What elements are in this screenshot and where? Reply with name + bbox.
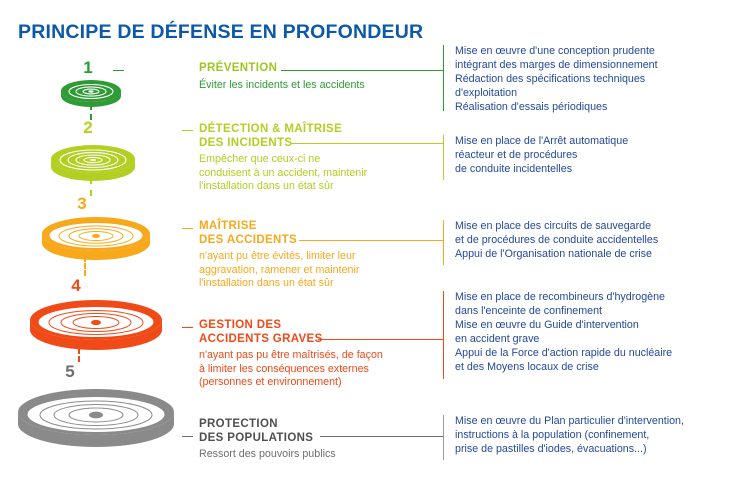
level-body-2: Empêcher que ceux-ci ne conduisent à un … (199, 153, 434, 194)
detail-line: de conduite incidentelles (455, 163, 628, 177)
infographic-canvas: PRINCIPE DE DÉFENSE EN PROFONDEUR 1 2 3 … (0, 0, 750, 499)
detail-line: et de procédures de conduite accidentell… (455, 234, 658, 248)
level-details-3: Mise en place des circuits de sauvegarde… (455, 220, 658, 262)
level-number-1: 1 (68, 58, 108, 78)
level-heading-3-line2: DES ACCIDENTS (199, 234, 297, 248)
level-divider-4 (443, 291, 444, 379)
detail-line: Mise en œuvre du Plan particulier d'inte… (455, 415, 684, 429)
barrier-disc-2 (48, 142, 138, 184)
level-heading-2-line2: DES INCIDENTS (199, 137, 292, 151)
level-heading-1-line1: PRÉVENTION (199, 62, 277, 76)
level-heading-4-line2: ACCIDENTS GRAVES (199, 333, 323, 347)
level-details-2: Mise en place de l'Arrêt automatique réa… (455, 135, 628, 177)
barrier-disc-5 (14, 382, 178, 452)
detail-line: Réalisation d'essais périodiques (455, 101, 658, 115)
level-heading-2: DÉTECTION & MAÎTRISE DES INCIDENTS (199, 123, 434, 150)
level-text-4: GESTION DES ACCIDENTS GRAVES n'ayant pas… (199, 319, 442, 390)
barrier-disc-3 (38, 212, 154, 264)
barrier-disc-4 (26, 294, 166, 354)
detail-line: en accident grave (455, 333, 672, 347)
level-details-4: Mise en place de recombineurs d'hydrogèn… (455, 291, 672, 374)
level-heading-3-line1: MAÎTRISE (199, 220, 257, 234)
level-number-4: 4 (56, 276, 96, 296)
level-details-1: Mise en œuvre d'une conception prudente … (455, 45, 658, 115)
level-heading-2-line1: DÉTECTION & MAÎTRISE (199, 123, 342, 137)
level-heading-1: PRÉVENTION (199, 62, 434, 76)
detail-line: Appui de la Force d'action rapide du nuc… (455, 347, 672, 361)
level-text-3: MAÎTRISE DES ACCIDENTS n'ayant pu être é… (199, 220, 434, 291)
level-body-1: Éviter les incidents et les accidents (199, 79, 434, 93)
level-body-4: n'ayant pas pu être maîtrisés, de façon … (199, 349, 442, 390)
level-text-5: PROTECTION DES POPULATIONS Ressort des p… (199, 418, 434, 462)
level-number-2: 2 (68, 118, 108, 138)
leader-rule-1 (281, 70, 443, 71)
leader-rule-5 (320, 436, 443, 437)
leader-stub-5 (182, 436, 193, 437)
detail-line: Appui de l'Organisation nationale de cri… (455, 248, 658, 262)
detail-line: instructions à la population (confinemen… (455, 429, 684, 443)
barrier-stack: 1 2 3 4 5 (0, 0, 200, 499)
leader-stub-3 (182, 228, 193, 229)
detail-line: Mise en place des circuits de sauvegarde (455, 220, 658, 234)
leader-stub-4 (182, 327, 193, 328)
level-heading-5-line2: DES POPULATIONS (199, 432, 313, 446)
level-body-3: n'ayant pu être évités, limiter leur agg… (199, 250, 434, 291)
level-text-1: PRÉVENTION Éviter les incidents et les a… (199, 62, 434, 92)
leader-rule-4 (318, 339, 443, 340)
level-heading-3: MAÎTRISE DES ACCIDENTS (199, 220, 434, 247)
leader-rule-3 (299, 240, 443, 241)
level-heading-5: PROTECTION DES POPULATIONS (199, 418, 434, 445)
level-number-3: 3 (62, 194, 102, 214)
level-divider-2 (443, 135, 444, 180)
level-heading-4-line1: GESTION DES (199, 319, 281, 333)
detail-line: intégrant des marges de dimensionnement (455, 59, 658, 73)
detail-line: dans l'enceinte de confinement (455, 305, 672, 319)
leader-stub-2 (182, 130, 193, 131)
detail-line: et des Moyens locaux de crise (455, 361, 672, 375)
level-text-2: DÉTECTION & MAÎTRISE DES INCIDENTS Empêc… (199, 123, 434, 194)
leader-rule-2 (290, 143, 443, 144)
detail-line: Mise en œuvre du Guide d'intervention (455, 319, 672, 333)
level-divider-5 (443, 415, 444, 460)
detail-line: réacteur et de procédures (455, 149, 628, 163)
level-divider-3 (443, 220, 444, 265)
detail-line: d'exploitation (455, 87, 658, 101)
detail-line: prise de pastilles d'iodes, évacuations.… (455, 443, 684, 457)
detail-line: Rédaction des spécifications techniques (455, 73, 658, 87)
detail-line: Mise en œuvre d'une conception prudente (455, 45, 658, 59)
level-divider-1 (443, 45, 444, 111)
level-details-5: Mise en œuvre du Plan particulier d'inte… (455, 415, 684, 457)
level-heading-5-line1: PROTECTION (199, 418, 278, 432)
level-body-5: Ressort des pouvoirs publics (199, 448, 434, 462)
level-number-5: 5 (50, 362, 90, 382)
barrier-disc-1 (58, 78, 124, 110)
detail-line: Mise en place de l'Arrêt automatique (455, 135, 628, 149)
leader-stub-1 (113, 70, 124, 71)
level-heading-4: GESTION DES ACCIDENTS GRAVES (199, 319, 442, 346)
detail-line: Mise en place de recombineurs d'hydrogèn… (455, 291, 672, 305)
